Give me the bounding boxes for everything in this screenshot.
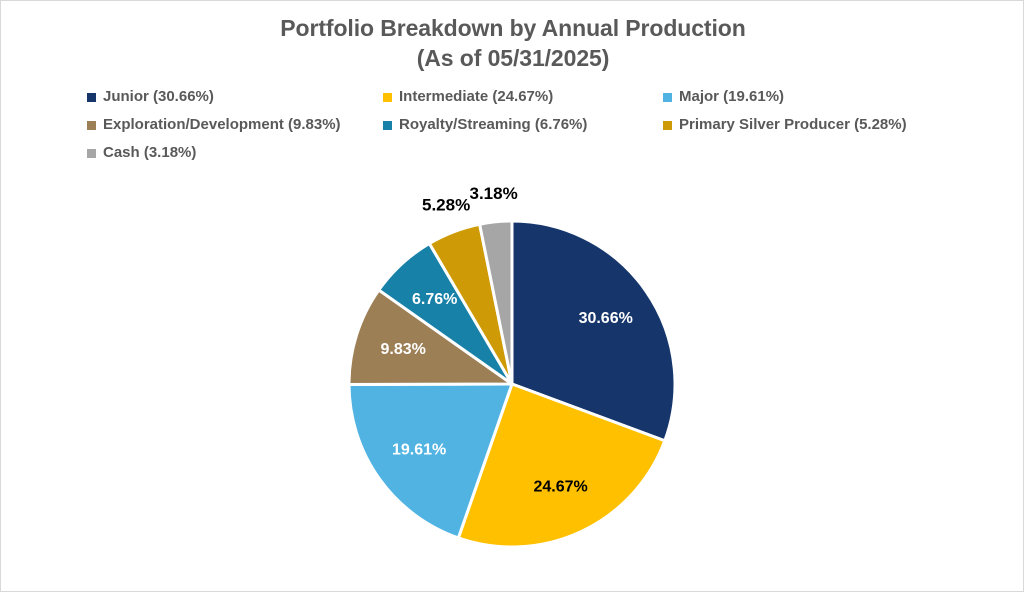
- legend-item-label: Intermediate (24.67%): [399, 88, 553, 106]
- legend-item-label: Exploration/Development (9.83%): [103, 116, 341, 134]
- legend-row: Junior (30.66%)Intermediate (24.67%)Majo…: [87, 88, 947, 116]
- legend-item[interactable]: Royalty/Streaming (6.76%): [383, 116, 663, 134]
- legend-item[interactable]: Major (19.61%): [663, 88, 943, 106]
- legend-item-label: Royalty/Streaming (6.76%): [399, 116, 587, 134]
- legend-swatch-icon: [87, 93, 96, 102]
- legend-item[interactable]: Exploration/Development (9.83%): [87, 116, 383, 134]
- pie-slice[interactable]: Cash 3.18%: [480, 221, 512, 384]
- legend-swatch-icon: [87, 149, 96, 158]
- pie-slice-label: 9.83%: [381, 341, 426, 358]
- legend-row: Cash (3.18%): [87, 144, 947, 172]
- legend-item-label: Major (19.61%): [679, 88, 784, 106]
- legend-row: Exploration/Development (9.83%)Royalty/S…: [87, 116, 947, 144]
- pie-slice[interactable]: Junior 30.66%: [512, 221, 675, 441]
- pie-slice-label: 6.76%: [412, 291, 457, 308]
- legend-item[interactable]: Junior (30.66%): [87, 88, 383, 106]
- pie-slice[interactable]: Primary Silver Producer 5.28%: [429, 224, 512, 384]
- chart-canvas: Portfolio Breakdown by Annual Production…: [0, 0, 1024, 592]
- legend-swatch-icon: [383, 93, 392, 102]
- legend-item[interactable]: Primary Silver Producer (5.28%): [663, 116, 943, 134]
- chart-title-line-2: (As of 05/31/2025): [1, 43, 1024, 73]
- pie-slice-label: 5.28%: [422, 195, 470, 214]
- legend-item-label: Junior (30.66%): [103, 88, 214, 106]
- pie-slice-label: 3.18%: [469, 184, 517, 203]
- page-title: Portfolio Breakdown by Annual Production…: [1, 13, 1024, 73]
- chart-legend: Junior (30.66%)Intermediate (24.67%)Majo…: [87, 88, 947, 172]
- pie-slice[interactable]: Intermediate 24.67%: [458, 384, 664, 547]
- chart-title-line-1: Portfolio Breakdown by Annual Production: [280, 15, 745, 41]
- legend-item[interactable]: Cash (3.18%): [87, 144, 383, 162]
- legend-swatch-icon: [383, 121, 392, 130]
- legend-item-label: Primary Silver Producer (5.28%): [679, 116, 907, 134]
- legend-item[interactable]: Intermediate (24.67%): [383, 88, 663, 106]
- pie-data-labels: 30.66%24.67%19.61%9.83%6.76%5.28%3.18%: [381, 184, 633, 495]
- legend-item-label: Cash (3.18%): [103, 144, 196, 162]
- pie-slice-label: 24.67%: [533, 478, 587, 495]
- pie-slices: Junior 30.66%Intermediate 24.67%Major 19…: [349, 221, 675, 547]
- legend-swatch-icon: [663, 93, 672, 102]
- legend-swatch-icon: [663, 121, 672, 130]
- pie-slice[interactable]: Royalty/Streaming 6.76%: [379, 244, 512, 385]
- pie-slice-label: 19.61%: [392, 441, 446, 458]
- legend-swatch-icon: [87, 121, 96, 130]
- pie-slice-label: 30.66%: [579, 310, 633, 327]
- pie-slice[interactable]: Exploration/Development 9.83%: [349, 290, 512, 385]
- pie-slice[interactable]: Major 19.61%: [349, 384, 512, 538]
